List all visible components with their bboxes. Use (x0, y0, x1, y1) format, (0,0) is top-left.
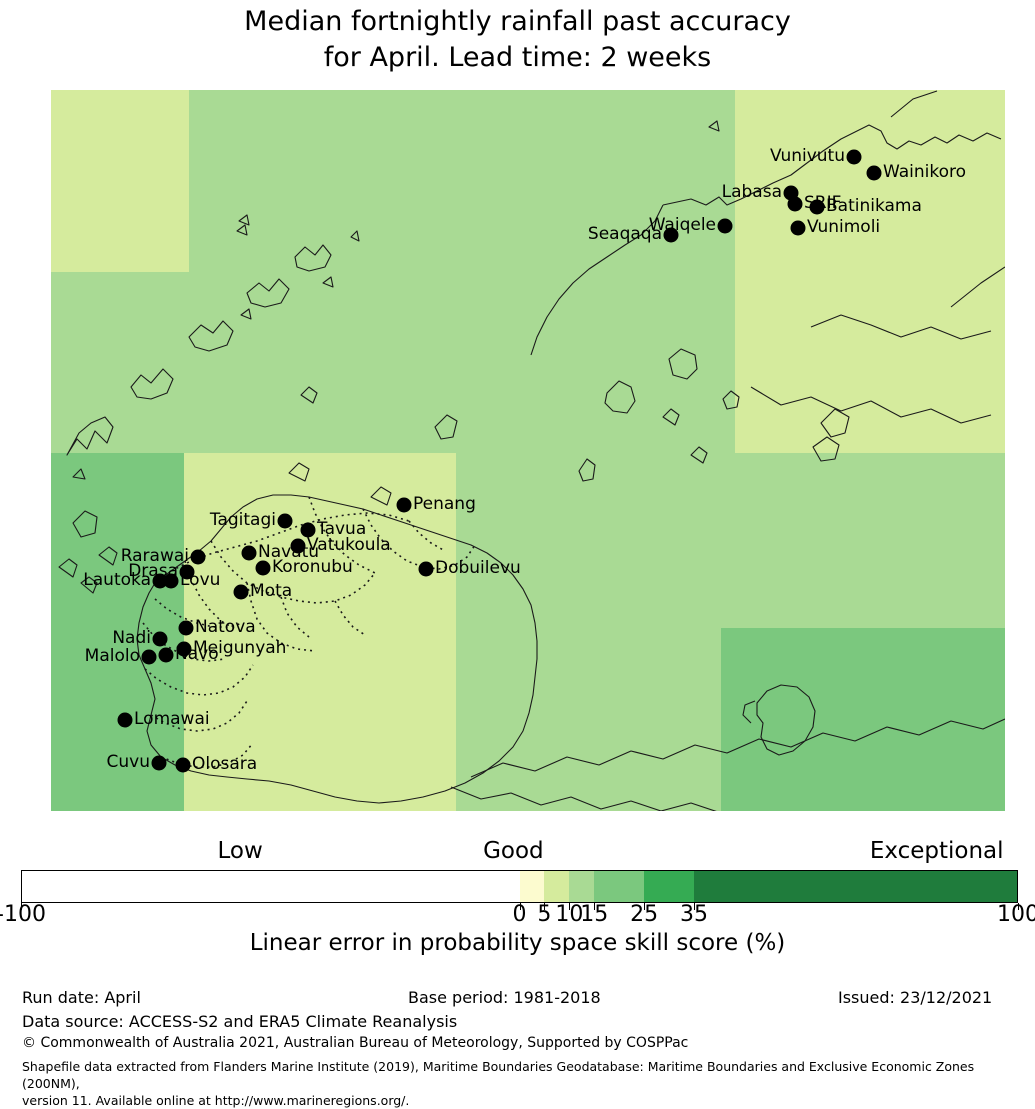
colorbar-tick-label-100: 100 (997, 902, 1035, 927)
colorbar-category-good: Good (483, 838, 544, 864)
colorbar-tick-label-10: 10 (555, 902, 583, 927)
station-label-olosara: Olosara (192, 756, 257, 773)
station-dot-natova (179, 621, 194, 636)
station-dot-penang (397, 498, 412, 513)
station-dot-batinikama (810, 200, 825, 215)
page-title: Median fortnightly rainfall past accurac… (0, 0, 1035, 76)
colorbar-segment-4 (594, 871, 644, 902)
station-dot-waiqele (718, 219, 733, 234)
colorbar-tick-label--100: -100 (0, 902, 46, 927)
colorbar-category-exceptional: Exceptional (870, 838, 1004, 864)
station-label-batinikama: Batinikama (826, 198, 922, 215)
footer-issued-date: Issued: 23/12/2021 (838, 988, 992, 1007)
station-label-vunimoli: Vunimoli (807, 219, 880, 236)
colorbar-segment-6 (694, 871, 1017, 902)
station-dot-srif (788, 197, 803, 212)
station-label-malolo: Malolo (85, 648, 140, 665)
colorbar-tick-label-0: 0 (513, 902, 527, 927)
footer-data-source: Data source: ACCESS-S2 and ERA5 Climate … (22, 1012, 457, 1031)
station-label-vunivutu: Vunivutu (770, 148, 845, 165)
colorbar-tick-labels: -1000510152535100 (0, 902, 1035, 928)
colorbar-segment-5 (644, 871, 694, 902)
colorbar-tick-label-25: 25 (630, 902, 658, 927)
station-dot-seaqaqa (664, 228, 679, 243)
station-label-natova: Natova (195, 619, 256, 636)
colorbar (21, 870, 1018, 903)
station-dot-vunimoli (791, 221, 806, 236)
station-label-navo: Navo (175, 646, 219, 663)
station-dot-olosara (176, 758, 191, 773)
station-label-seaqaqa: Seaqaqa (588, 226, 662, 243)
footer-copyright: © Commonwealth of Australia 2021, Austra… (22, 1035, 688, 1051)
station-dot-vunivutu (847, 150, 862, 165)
station-dot-rarawai (191, 550, 206, 565)
colorbar-category-low: Low (217, 838, 262, 864)
station-dot-malolo (142, 650, 157, 665)
colorbar-tick-label-5: 5 (537, 902, 551, 927)
station-dot-koronubu (256, 561, 271, 576)
station-dot-lovu (164, 574, 179, 589)
station-dot-navatu (242, 546, 257, 561)
station-label-labasa: Labasa (722, 184, 782, 201)
station-label-wainikoro: Wainikoro (883, 164, 966, 181)
station-label-lautoka: Lautoka (83, 572, 151, 589)
station-label-cuvu: Cuvu (107, 754, 150, 771)
station-label-tagitagi: Tagitagi (210, 512, 276, 529)
colorbar-segment-1 (520, 871, 545, 902)
station-label-vatukoula: Vatukoula (307, 537, 391, 554)
station-dot-cuvu (152, 756, 167, 771)
station-label-dobuilevu: Dobuilevu (435, 560, 521, 577)
colorbar-segment-0 (22, 871, 520, 902)
colorbar-axis-label: Linear error in probability space skill … (0, 930, 1035, 956)
footer-base-period: Base period: 1981-2018 (408, 988, 601, 1007)
colorbar-tick-label-35: 35 (680, 902, 708, 927)
footer-shapefile-attribution: Shapefile data extracted from Flanders M… (22, 1058, 1022, 1109)
station-label-koronubu: Koronubu (272, 559, 353, 576)
station-dot-lomawai (118, 713, 133, 728)
colorbar-segment-2 (544, 871, 569, 902)
station-label-mota: Mota (250, 583, 292, 600)
station-dot-navo (159, 648, 174, 663)
station-dot-dobuilevu (419, 562, 434, 577)
colorbar-category-labels: LowGoodExceptional (0, 838, 1035, 868)
footer-run-date: Run date: April (22, 988, 141, 1007)
station-label-nadi: Nadi (112, 630, 151, 647)
station-dot-mota (234, 585, 249, 600)
station-dot-nadi (153, 632, 168, 647)
station-dot-tagitagi (278, 514, 293, 529)
colorbar-segment-3 (569, 871, 594, 902)
map-panel: VunivutuWainikoroLabasaWaiqeleSRIFBatini… (51, 87, 1005, 811)
station-label-penang: Penang (413, 496, 476, 513)
colorbar-tick-label-15: 15 (580, 902, 608, 927)
station-dot-wainikoro (867, 166, 882, 181)
station-label-lovu: Lovu (180, 572, 220, 589)
station-label-lomawai: Lomawai (134, 711, 210, 728)
